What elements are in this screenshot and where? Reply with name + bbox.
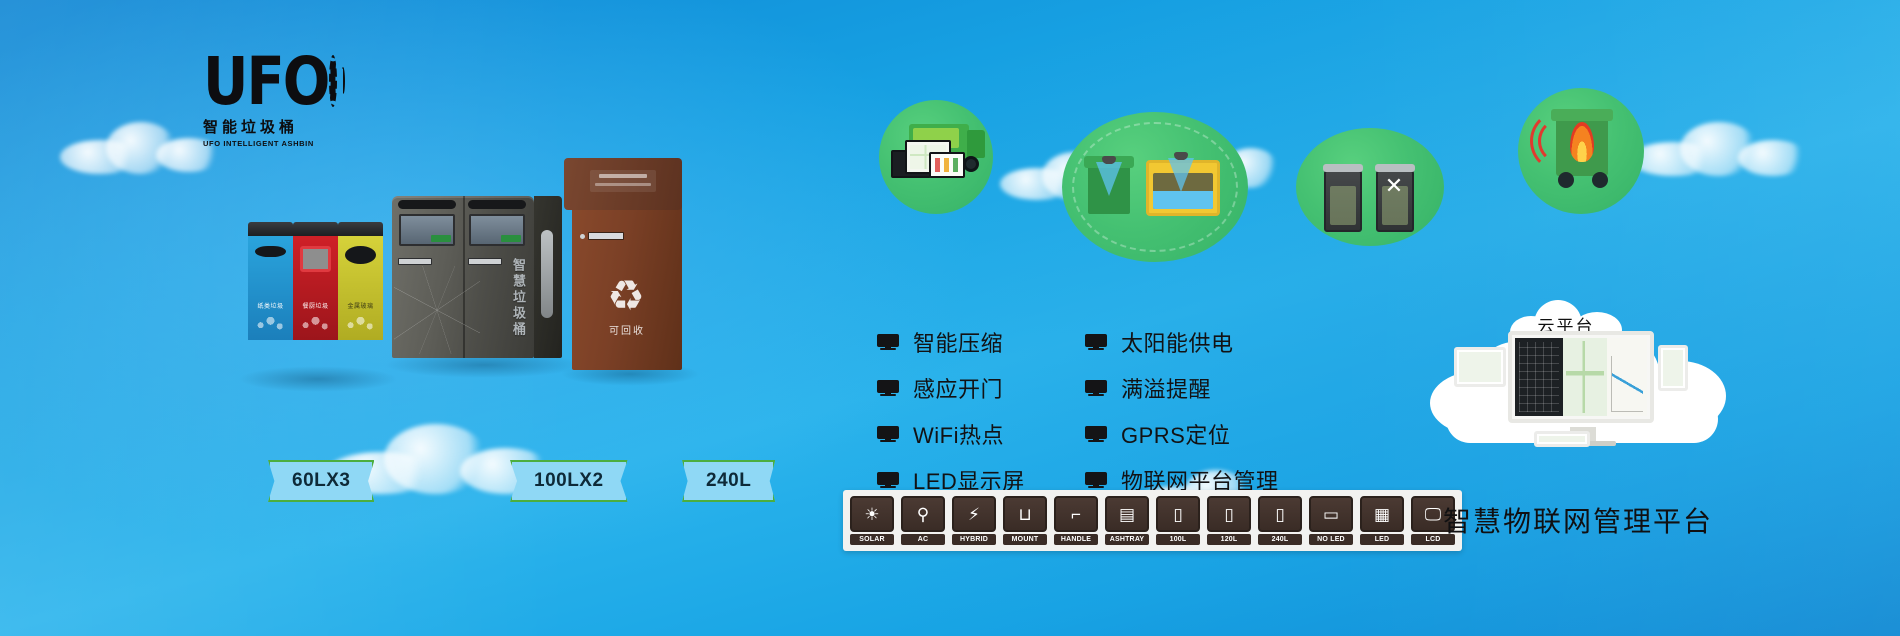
- feature-label: 满溢提醒: [1121, 372, 1211, 404]
- truck-icon: [879, 100, 993, 214]
- bin-body: 餐厨垃圾: [293, 236, 338, 340]
- feature-label: 感应开门: [913, 372, 1003, 404]
- option-icon-label: SOLAR: [850, 534, 894, 545]
- option-icon-label: 240L: [1258, 534, 1302, 545]
- feature-item: GPRS定位: [1085, 418, 1279, 450]
- ashtray-icon: ▤: [1105, 496, 1149, 532]
- bin-control-panel-left: [398, 258, 432, 265]
- monitor-pane-grid: [1515, 338, 1563, 416]
- bin-lid: [293, 222, 338, 236]
- option-icon-led[interactable]: ▦ LED: [1360, 496, 1404, 545]
- monitor-icon: [1085, 472, 1107, 488]
- monitor-screen: [1515, 338, 1647, 416]
- option-icon-120l[interactable]: ▯ 120L: [1207, 496, 1251, 545]
- monitor-icon: [1085, 380, 1107, 396]
- option-icon-240l[interactable]: ▯ 240L: [1258, 496, 1302, 545]
- option-icon-label: ASHTRAY: [1105, 534, 1149, 545]
- feature-item: 感应开门: [877, 372, 1025, 404]
- bin-segment-kitchen: 餐厨垃圾: [293, 222, 338, 340]
- bin-body: 金属玻璃: [338, 236, 383, 340]
- option-icon-handle[interactable]: ⌐ HANDLE: [1054, 496, 1098, 545]
- bin-segment-label: 纸类垃圾: [248, 301, 293, 310]
- bin-lid: [248, 222, 293, 236]
- bin-100l-icon: ▯: [1156, 496, 1200, 532]
- feature-label: GPRS定位: [1121, 418, 1230, 450]
- bin-slot: [345, 246, 376, 264]
- bin-240l-icon: ▯: [1258, 496, 1302, 532]
- hybrid-icon: ⚡: [952, 496, 996, 532]
- option-icon-label: HYBRID: [952, 534, 996, 545]
- bin-control-panel-right: [468, 258, 502, 265]
- bin-100l-double[interactable]: 智慧垃圾桶: [392, 196, 534, 358]
- bin-compare-icon: ✕: [1296, 128, 1444, 246]
- handle-icon: ⌐: [1054, 496, 1098, 532]
- bin-graphic: [254, 312, 287, 334]
- display-tag: [501, 235, 521, 242]
- illustration-fill-sensor: [1062, 112, 1248, 262]
- option-icon-ac[interactable]: ⚲ AC: [901, 496, 945, 545]
- bin-segment-label: 金属玻璃: [338, 301, 383, 310]
- monitor-icon: [1085, 426, 1107, 442]
- solar-icon: ☀: [850, 496, 894, 532]
- option-icon-ashtray[interactable]: ▤ ASHTRAY: [1105, 496, 1149, 545]
- bin-lid: [338, 222, 383, 236]
- feature-list-left: 智能压缩 感应开门 WiFi热点 LED显示屏: [877, 326, 1025, 510]
- logo-wordmark: UFO: [203, 52, 328, 113]
- logo-wordmark-row: UFO: [203, 52, 318, 114]
- monitor-icon: [877, 426, 899, 442]
- illustration-collection-truck: [879, 100, 993, 214]
- feature-item: 满溢提醒: [1085, 372, 1279, 404]
- bin-slot: [255, 246, 286, 257]
- option-icon-label: LED: [1360, 534, 1404, 545]
- bin-shell: ♻ 可回收: [572, 170, 682, 370]
- platform-title: 智慧物联网管理平台: [1443, 500, 1713, 540]
- capacity-banner-100l: 100LX2: [510, 460, 628, 502]
- bin-body: 纸类垃圾: [248, 236, 293, 340]
- monitor-icon: [877, 334, 899, 350]
- bin-graphic: [299, 312, 332, 334]
- side-column-light: [541, 230, 553, 318]
- banner-stage: UFO 智能垃圾桶 UFO INTELLIGENT ASHBIN 纸类垃圾 餐厨…: [0, 0, 1900, 636]
- bin-graphic: [344, 312, 377, 334]
- platform-tablet-left: [1454, 347, 1506, 387]
- bin-label: 可回收: [572, 322, 682, 337]
- bin-hood-left: [398, 200, 456, 209]
- bin-segment-paper: 纸类垃圾: [248, 222, 293, 340]
- bin-vertical-label: 智慧垃圾桶: [509, 258, 528, 338]
- feature-item: 太阳能供电: [1085, 326, 1279, 358]
- plate-line-primary: [599, 174, 647, 178]
- option-icon-label: NO LED: [1309, 534, 1353, 545]
- bin-shadow-60l: [238, 366, 398, 392]
- bin-segment-label: 餐厨垃圾: [293, 301, 338, 310]
- capacity-banner-60l: 60LX3: [268, 460, 374, 502]
- option-icon-label: 100L: [1156, 534, 1200, 545]
- feature-item: 智能压缩: [877, 326, 1025, 358]
- platform-keyboard: [1534, 431, 1590, 447]
- platform-monitor: [1508, 331, 1654, 423]
- bin-side-column: [534, 196, 562, 358]
- option-icon-no-led[interactable]: ▭ NO LED: [1309, 496, 1353, 545]
- bin-hood-right: [468, 200, 526, 209]
- option-icon-label: MOUNT: [1003, 534, 1047, 545]
- fill-level-sensor-icon: [1062, 112, 1248, 262]
- bin-slot: [300, 246, 331, 272]
- bin-segment-metal-glass: 金属玻璃: [338, 222, 383, 340]
- option-icon-hybrid[interactable]: ⚡ HYBRID: [952, 496, 996, 545]
- plate-line-secondary: [595, 183, 651, 186]
- bin-top-cap: [564, 158, 682, 210]
- monitor-icon: [877, 472, 899, 488]
- no-led-icon: ▭: [1309, 496, 1353, 532]
- feature-list-right: 太阳能供电 满溢提醒 GPRS定位 物联网平台管理: [1085, 326, 1279, 510]
- platform-phone-right: [1658, 345, 1688, 391]
- ac-plug-icon: ⚲: [901, 496, 945, 532]
- feature-label: WiFi热点: [913, 418, 1004, 450]
- logo-ring-icon: [329, 55, 337, 107]
- bin-120l-icon: ▯: [1207, 496, 1251, 532]
- bin-display-right: [469, 214, 525, 246]
- display-tag: [431, 235, 451, 242]
- monitor-pane-map: [1563, 338, 1608, 416]
- illustration-fire-alarm: [1518, 88, 1644, 214]
- option-icon-strip: ☀ SOLAR ⚲ AC ⚡ HYBRID ⊔ MOUNT ⌐ HANDLE ▤…: [843, 490, 1462, 551]
- feature-label: 智能压缩: [913, 326, 1003, 358]
- cloud-decor-5: [1630, 120, 1810, 180]
- monitor-icon: [877, 380, 899, 396]
- bin-indicator-dot: [580, 234, 585, 239]
- option-icon-mount[interactable]: ⊔ MOUNT: [1003, 496, 1047, 545]
- brand-logo: UFO 智能垃圾桶 UFO INTELLIGENT ASHBIN: [203, 52, 318, 147]
- bin-top-plate: [590, 170, 656, 192]
- option-icon-label: AC: [901, 534, 945, 545]
- bin-240l-single[interactable]: ♻ 可回收: [572, 170, 682, 370]
- bin-display-left: [399, 214, 455, 246]
- logo-english-name: UFO INTELLIGENT ASHBIN: [203, 139, 318, 148]
- illustration-bin-status: ✕: [1296, 128, 1444, 246]
- led-icon: ▦: [1360, 496, 1404, 532]
- capacity-banner-240l: 240L: [682, 460, 775, 502]
- bin-60l-triple[interactable]: 纸类垃圾 餐厨垃圾 金属玻璃: [248, 222, 383, 340]
- bin-control-panel: [588, 232, 624, 240]
- monitor-icon: [1085, 334, 1107, 350]
- feature-label: 太阳能供电: [1121, 326, 1234, 358]
- option-icon-label: HANDLE: [1054, 534, 1098, 545]
- option-icon-100l[interactable]: ▯ 100L: [1156, 496, 1200, 545]
- monitor-pane-chart: [1607, 338, 1647, 416]
- bin-shell: 智慧垃圾桶: [392, 196, 534, 358]
- bin-mesh-graphic: [394, 266, 480, 354]
- mount-icon: ⊔: [1003, 496, 1047, 532]
- feature-item: WiFi热点: [877, 418, 1025, 450]
- option-icon-solar[interactable]: ☀ SOLAR: [850, 496, 894, 545]
- fire-alarm-icon: [1518, 88, 1644, 214]
- recycle-icon: ♻: [602, 274, 650, 318]
- option-icon-label: 120L: [1207, 534, 1251, 545]
